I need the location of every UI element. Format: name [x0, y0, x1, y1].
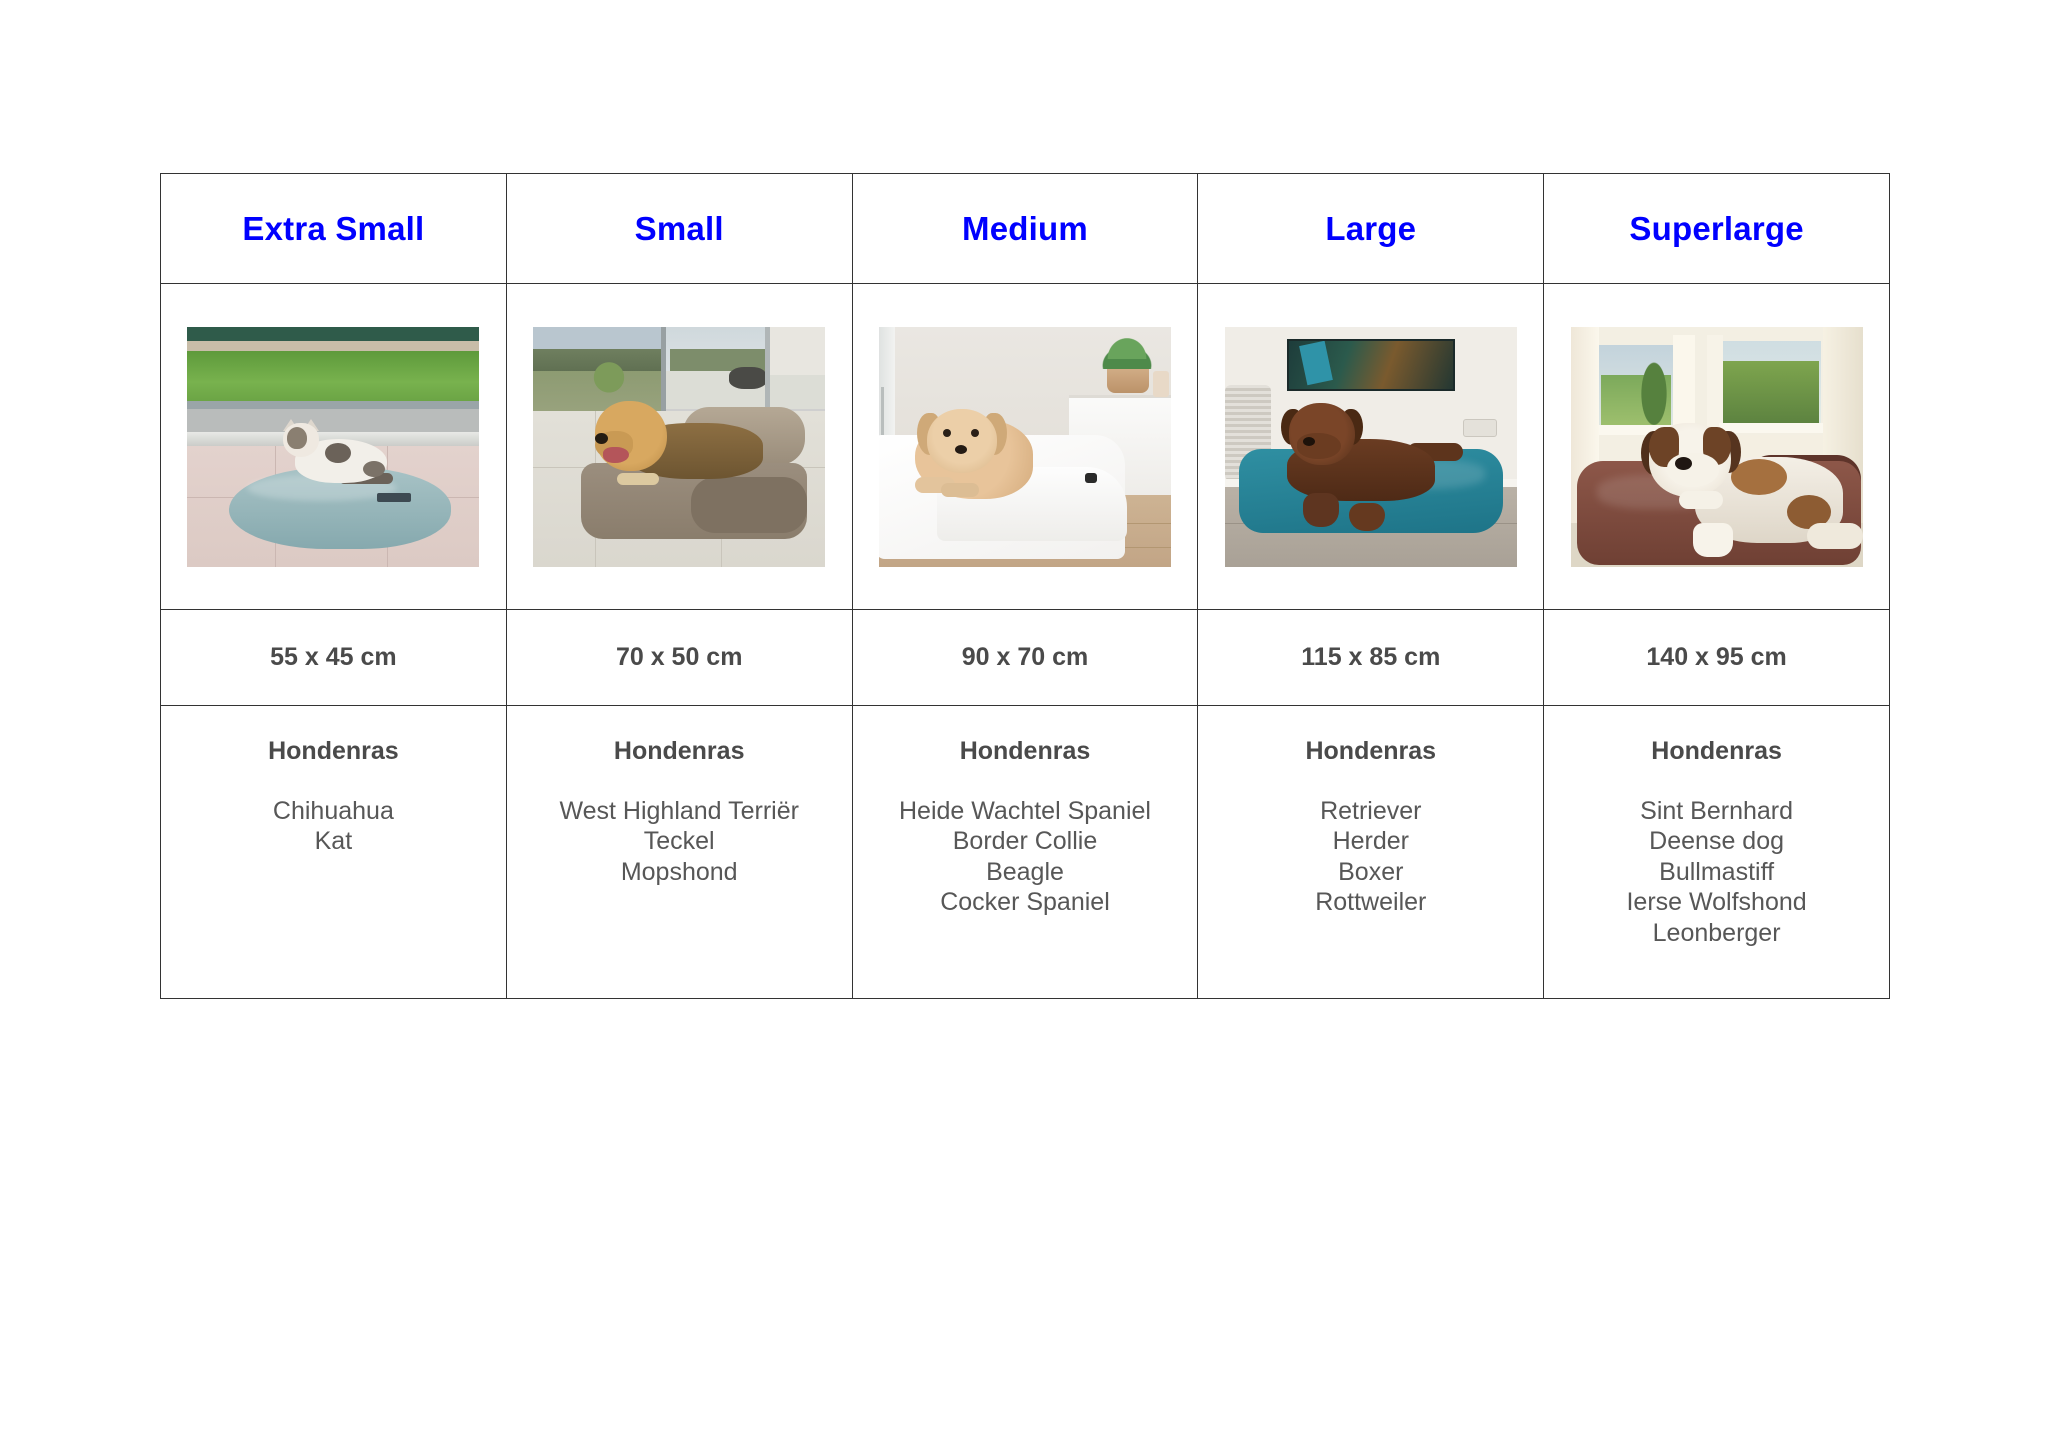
- breeds-cell-small: Hondenras West Highland TerriërTeckelMop…: [506, 706, 852, 999]
- dimensions-large: 115 x 85 cm: [1198, 643, 1543, 672]
- breed-item: Deense dog: [1544, 826, 1889, 857]
- breed-item: West Highland Terriër: [507, 796, 852, 827]
- page-canvas: Extra Small Small Medium Large Superlarg…: [0, 0, 2048, 1448]
- breed-list-large: RetrieverHerderBoxerRottweiler: [1198, 796, 1543, 918]
- photo-wrap-large: [1198, 284, 1543, 609]
- dimensions-cell-small: 70 x 50 cm: [506, 610, 852, 706]
- breed-block-small: Hondenras West Highland TerriërTeckelMop…: [507, 706, 852, 887]
- breed-item: Beagle: [853, 857, 1198, 888]
- size-name-medium: Medium: [853, 212, 1198, 245]
- photo-cell-small: [506, 284, 852, 610]
- breed-item: Border Collie: [853, 826, 1198, 857]
- breed-item: Heide Wachtel Spaniel: [853, 796, 1198, 827]
- header-cell-medium: Medium: [852, 174, 1198, 284]
- table-dimensions-row: 55 x 45 cm 70 x 50 cm 90 x 70 cm 115 x 8…: [161, 610, 1890, 706]
- breed-item: Retriever: [1198, 796, 1543, 827]
- photo-cell-large: [1198, 284, 1544, 610]
- dimensions-medium: 90 x 70 cm: [853, 643, 1198, 672]
- breed-block-extra-small: Hondenras ChihuahuaKat: [161, 706, 506, 857]
- photo-cell-medium: [852, 284, 1198, 610]
- breed-item: Rottweiler: [1198, 887, 1543, 918]
- breed-list-medium: Heide Wachtel SpanielBorder CollieBeagle…: [853, 796, 1198, 918]
- breed-item: Chihuahua: [161, 796, 506, 827]
- breeds-cell-large: Hondenras RetrieverHerderBoxerRottweiler: [1198, 706, 1544, 999]
- table-breeds-row: Hondenras ChihuahuaKat Hondenras West Hi…: [161, 706, 1890, 999]
- dimensions-extra-small: 55 x 45 cm: [161, 643, 506, 672]
- breed-list-superlarge: Sint BernhardDeense dogBullmastiffIerse …: [1544, 796, 1889, 949]
- breed-item: Mopshond: [507, 857, 852, 888]
- photo-cell-superlarge: [1544, 284, 1890, 610]
- breed-item: Cocker Spaniel: [853, 887, 1198, 918]
- dimensions-cell-medium: 90 x 70 cm: [852, 610, 1198, 706]
- dimensions-small: 70 x 50 cm: [507, 643, 852, 672]
- breeds-cell-extra-small: Hondenras ChihuahuaKat: [161, 706, 507, 999]
- breed-item: Teckel: [507, 826, 852, 857]
- size-name-large: Large: [1198, 212, 1543, 245]
- header-cell-extra-small: Extra Small: [161, 174, 507, 284]
- header-cell-small: Small: [506, 174, 852, 284]
- breed-title-superlarge: Hondenras: [1544, 738, 1889, 766]
- breed-item: Ierse Wolfshond: [1544, 887, 1889, 918]
- breed-list-small: West Highland TerriërTeckelMopshond: [507, 796, 852, 888]
- table-photo-row: [161, 284, 1890, 610]
- breed-title-small: Hondenras: [507, 738, 852, 766]
- photo-wrap-medium: [853, 284, 1198, 609]
- photo-wrap-extra-small: [161, 284, 506, 609]
- breed-item: Sint Bernhard: [1544, 796, 1889, 827]
- dimensions-superlarge: 140 x 95 cm: [1544, 643, 1889, 672]
- product-photo-large: [1225, 327, 1517, 567]
- product-photo-medium: [879, 327, 1171, 567]
- product-photo-superlarge: [1571, 327, 1863, 567]
- breed-title-large: Hondenras: [1198, 738, 1543, 766]
- breed-title-medium: Hondenras: [853, 738, 1198, 766]
- dimensions-cell-large: 115 x 85 cm: [1198, 610, 1544, 706]
- header-cell-superlarge: Superlarge: [1544, 174, 1890, 284]
- dimensions-cell-superlarge: 140 x 95 cm: [1544, 610, 1890, 706]
- breed-item: Boxer: [1198, 857, 1543, 888]
- photo-wrap-small: [507, 284, 852, 609]
- breeds-cell-medium: Hondenras Heide Wachtel SpanielBorder Co…: [852, 706, 1198, 999]
- breed-item: Herder: [1198, 826, 1543, 857]
- product-photo-extra-small: [187, 327, 479, 567]
- breed-item: Leonberger: [1544, 918, 1889, 949]
- table-header-row: Extra Small Small Medium Large Superlarg…: [161, 174, 1890, 284]
- breed-block-superlarge: Hondenras Sint BernhardDeense dogBullmas…: [1544, 706, 1889, 948]
- photo-cell-extra-small: [161, 284, 507, 610]
- breed-list-extra-small: ChihuahuaKat: [161, 796, 506, 857]
- header-cell-large: Large: [1198, 174, 1544, 284]
- dog-bed-size-table: Extra Small Small Medium Large Superlarg…: [160, 173, 1890, 999]
- breed-title-extra-small: Hondenras: [161, 738, 506, 766]
- product-photo-small: [533, 327, 825, 567]
- size-name-extra-small: Extra Small: [161, 212, 506, 245]
- breed-item: Bullmastiff: [1544, 857, 1889, 888]
- breeds-cell-superlarge: Hondenras Sint BernhardDeense dogBullmas…: [1544, 706, 1890, 999]
- breed-item: Kat: [161, 826, 506, 857]
- photo-wrap-superlarge: [1544, 284, 1889, 609]
- dimensions-cell-extra-small: 55 x 45 cm: [161, 610, 507, 706]
- breed-block-large: Hondenras RetrieverHerderBoxerRottweiler: [1198, 706, 1543, 918]
- size-name-small: Small: [507, 212, 852, 245]
- breed-block-medium: Hondenras Heide Wachtel SpanielBorder Co…: [853, 706, 1198, 918]
- size-name-superlarge: Superlarge: [1544, 212, 1889, 245]
